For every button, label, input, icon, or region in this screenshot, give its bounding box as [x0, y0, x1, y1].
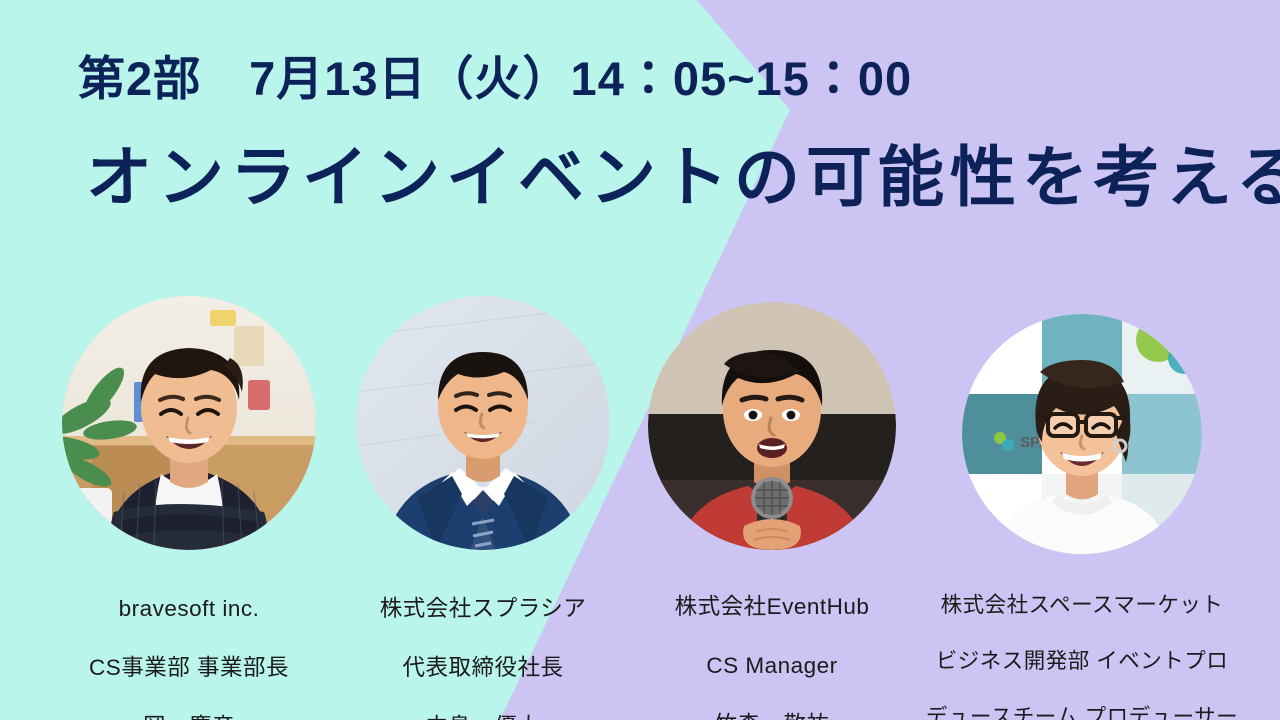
speaker-3-company: 株式会社EventHub [622, 592, 922, 622]
page-title: オンラインイベントの可能性を考える [86, 140, 1280, 216]
speaker-1-role: CS事業部 事業部長 [36, 653, 342, 683]
speaker-4-role-cont: デュースチーム プロデューサー [912, 704, 1252, 720]
speaker-3-caption: 株式会社EventHub CS Manager 竹森 敬祐 [622, 562, 922, 720]
speaker-1-caption: bravesoft inc. CS事業部 事業部長 岡 慶彦 [36, 564, 342, 720]
speaker-2-company: 株式会社スプラシア [330, 594, 636, 624]
speaker-card-4: SPAC [912, 296, 1252, 720]
speaker-4-company: 株式会社スペースマーケット [912, 592, 1252, 620]
speaker-1-company: bravesoft inc. [36, 594, 342, 624]
speaker-1-avatar [62, 296, 316, 550]
speaker-2-role: 代表取締役社長 [330, 653, 636, 683]
speaker-3-avatar [648, 302, 896, 550]
speaker-card-1: bravesoft inc. CS事業部 事業部長 岡 慶彦 [36, 296, 342, 720]
speaker-2-name: 中島 優太 [330, 712, 636, 720]
presentation-slide: 第2部 7月13日（火）14：05~15：00 オンラインイベントの可能性を考え… [0, 0, 1280, 720]
session-subtitle: 第2部 7月13日（火）14：05~15：00 [78, 55, 912, 102]
speaker-3-name: 竹森 敬祐 [622, 710, 922, 720]
speaker-4-avatar: SPAC [962, 314, 1202, 554]
speaker-card-3: 株式会社EventHub CS Manager 竹森 敬祐 [622, 296, 922, 720]
speaker-4-role: ビジネス開発部 イベントプロ [912, 648, 1252, 676]
speaker-4-caption: 株式会社スペースマーケット ビジネス開発部 イベントプロ デュースチーム プロデ… [912, 564, 1252, 720]
speaker-list: bravesoft inc. CS事業部 事業部長 岡 慶彦 [0, 296, 1280, 696]
speaker-2-avatar [356, 296, 610, 550]
speaker-1-name: 岡 慶彦 [36, 712, 342, 720]
speaker-3-role: CS Manager [622, 651, 922, 681]
speaker-2-caption: 株式会社スプラシア 代表取締役社長 中島 優太 [330, 564, 636, 720]
speaker-card-2: 株式会社スプラシア 代表取締役社長 中島 優太 [330, 296, 636, 720]
